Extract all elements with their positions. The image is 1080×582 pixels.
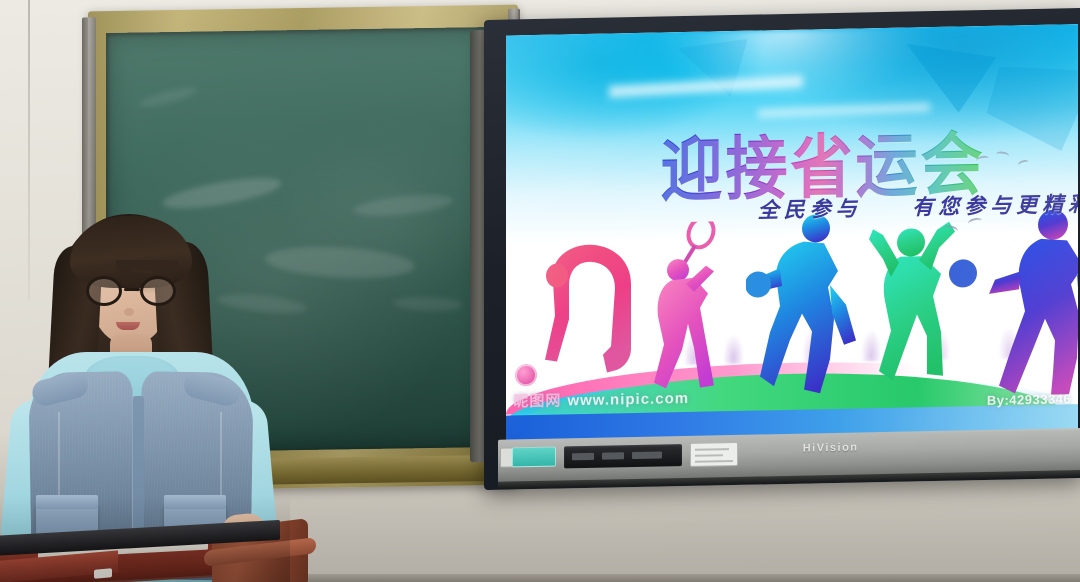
classroom-scene: 迎接省运会 全民参与 有您参与更精彩 <box>0 0 1080 582</box>
display-port-panel[interactable] <box>564 444 682 468</box>
glasses-lens-right <box>140 276 176 306</box>
bezel-spec-label <box>690 442 738 467</box>
poster-watermark: 昵图网www.nipic.com <box>513 386 689 411</box>
chalk-smudge <box>161 172 283 214</box>
display-screen[interactable]: 迎接省运会 全民参与 有您参与更精彩 <box>506 24 1078 441</box>
athlete-tennis <box>638 221 748 398</box>
poster-subtitle-right: 有您参与更精彩 <box>912 191 1078 220</box>
athlete-basketball <box>746 213 871 401</box>
glasses-bridge <box>124 288 140 291</box>
athlete-volleyball <box>861 211 981 393</box>
watermark-cn-text: 昵图网 <box>513 392 561 410</box>
vest-seam <box>220 412 222 508</box>
nose <box>124 308 134 316</box>
sports-meet-poster: 迎接省运会 全民参与 有您参与更精彩 <box>506 24 1078 441</box>
bezel-teal-sticker <box>512 447 556 468</box>
vest-seam <box>58 412 60 508</box>
subtitle-gap <box>874 215 900 216</box>
chalk-smudge <box>137 83 198 110</box>
chalk-smudge <box>392 296 463 313</box>
podium <box>0 496 300 582</box>
poster-credit: By:42933346 <box>987 391 1071 408</box>
poster-subtitle-left: 全民参与 <box>758 196 862 223</box>
poster-subtitle: 全民参与 有您参与更精彩 <box>758 188 1078 225</box>
chalk-piece <box>94 568 112 579</box>
watermark-url-text: www.nipic.com <box>567 389 689 408</box>
display-brand-logo: HiVision <box>803 442 859 455</box>
smart-display[interactable]: 迎接省运会 全民参与 有您参与更精彩 <box>484 8 1080 490</box>
chalk-smudge <box>264 244 416 282</box>
glasses-icon <box>84 276 178 306</box>
chalk-smudge <box>352 191 453 219</box>
glasses-lens-left <box>86 276 122 306</box>
